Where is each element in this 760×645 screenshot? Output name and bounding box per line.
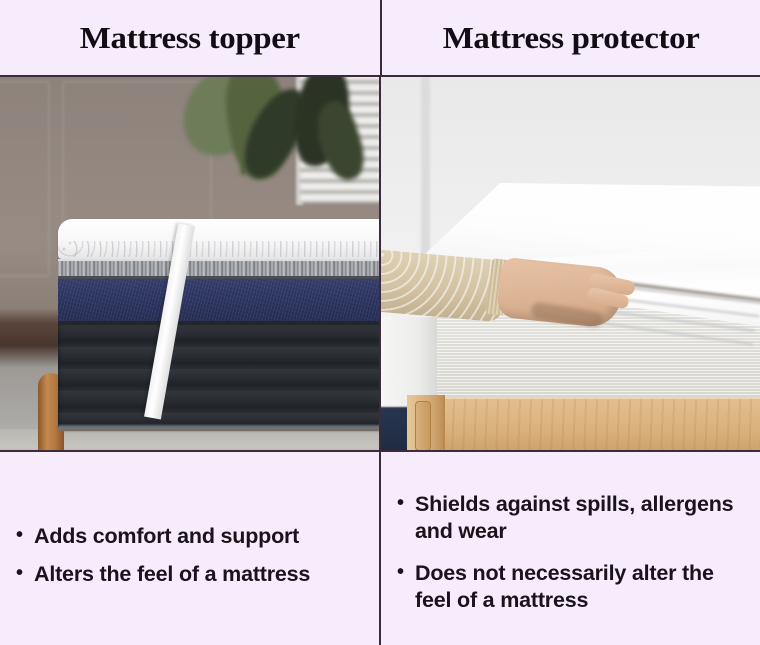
wall-panel (0, 81, 50, 277)
comparison-infographic: Mattress topper Mattress protector (0, 0, 760, 645)
list-item: • Does not necessarily alter the feel of… (397, 560, 744, 614)
bullet-text: Adds comfort and support (34, 523, 363, 550)
bullet-text: Alters the feel of a mattress (34, 561, 363, 588)
column-title-topper: Mattress topper (80, 20, 300, 56)
navy-foam-layer (58, 279, 379, 325)
mattress-cutaway (58, 219, 379, 427)
header-cell-protector: Mattress protector (380, 0, 760, 75)
bullet-list-protector: • Shields against spills, allergens and … (397, 491, 744, 627)
mattress-topper-photo (0, 77, 379, 450)
bed-frame-rail (409, 397, 760, 450)
base-edge (58, 425, 379, 431)
bullet-text: Does not necessarily alter the feel of a… (415, 560, 744, 614)
bullet-text: Shields against spills, allergens and we… (415, 491, 744, 545)
bullet-cell-topper: • Adds comfort and support • Alters the … (0, 452, 379, 645)
bullet-dot-icon: • (397, 560, 415, 585)
photo-row (0, 75, 760, 452)
quilt-texture (58, 241, 379, 257)
bullets-row: • Adds comfort and support • Alters the … (0, 452, 760, 645)
bullet-cell-protector: • Shields against spills, allergens and … (379, 452, 760, 645)
bullet-dot-icon: • (16, 561, 34, 586)
header-row: Mattress topper Mattress protector (0, 0, 760, 75)
bullet-dot-icon: • (16, 523, 34, 548)
base-layer (58, 325, 379, 427)
mattress-protector-photo (379, 77, 760, 450)
room-background (0, 77, 379, 450)
list-item: • Alters the feel of a mattress (16, 561, 363, 588)
topper-layer (58, 219, 379, 259)
bullet-dot-icon: • (397, 491, 415, 516)
frame-bracket (415, 401, 431, 450)
list-item: • Shields against spills, allergens and … (397, 491, 744, 545)
bullet-list-topper: • Adds comfort and support • Alters the … (16, 523, 363, 587)
header-cell-topper: Mattress topper (0, 0, 380, 75)
bedroom-background (381, 77, 760, 450)
list-item: • Adds comfort and support (16, 523, 363, 550)
coil-layer (58, 259, 379, 279)
column-title-protector: Mattress protector (443, 20, 700, 56)
